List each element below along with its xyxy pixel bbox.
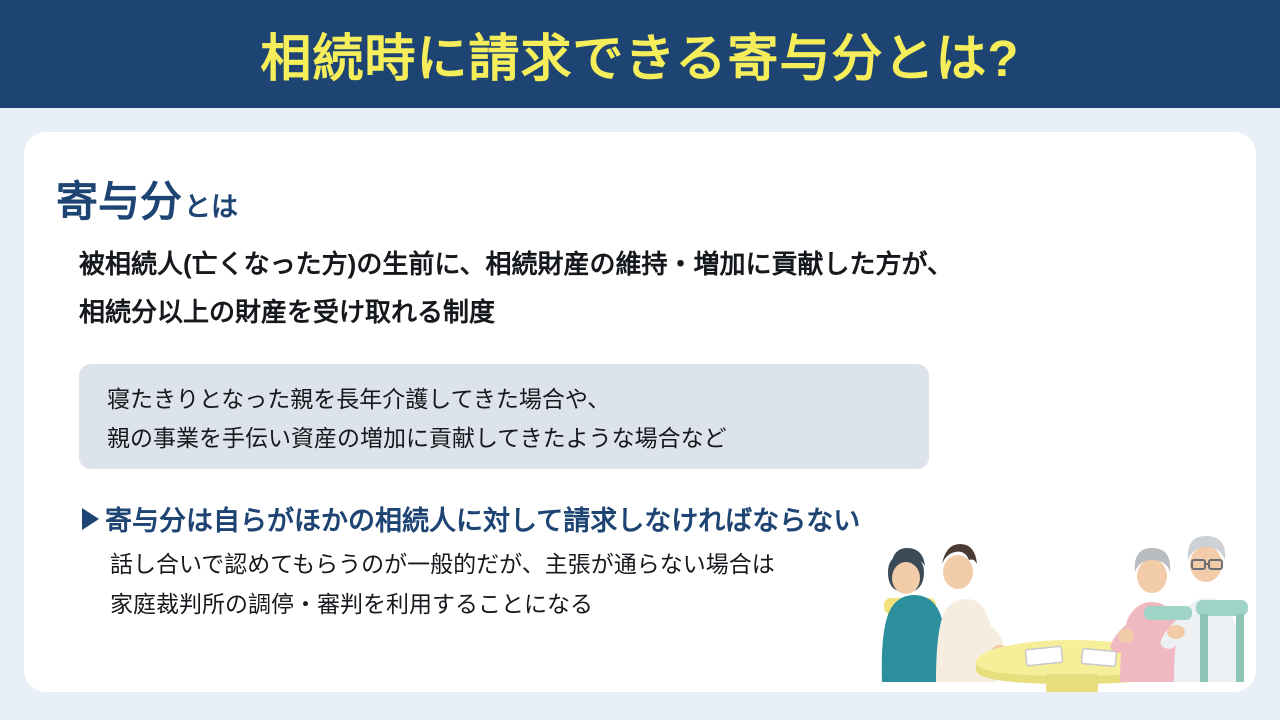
claim-heading-row: 寄与分は自らがほかの相続人に対して請求しなければならない xyxy=(82,499,860,538)
example-box: 寝たきりとなった親を長年介護してきた場合や、 親の事業を手伝い資産の増加に貢献し… xyxy=(79,364,929,469)
chair-mid-right xyxy=(1144,606,1192,620)
triangle-bullet-icon xyxy=(82,508,99,530)
page-title: 相続時に請求できる寄与分とは? xyxy=(0,0,1280,108)
claim-detail-block: 話し合いで認めてもらうのが一般的だが、主張が通らない場合は 家庭裁判所の調停・審… xyxy=(110,544,970,624)
example-line-2: 親の事業を手伝い資産の増加に貢献してきたような場合など xyxy=(107,419,929,458)
example-line-1: 寝たきりとなった親を長年介護してきた場合や、 xyxy=(107,380,929,419)
slide: 相続時に請求できる寄与分とは? 寄与分とは 被相続人(亡くなった方)の生前に、相… xyxy=(0,0,1280,720)
definition-line-2: 相続分以上の財産を受け取れる制度 xyxy=(79,288,1199,336)
claim-heading: 寄与分は自らがほかの相続人に対して請求しなければならない xyxy=(105,499,860,538)
definition-line-1: 被相続人(亡くなった方)の生前に、相続財産の維持・増加に貢献した方が、 xyxy=(79,240,1199,288)
family-meeting-illustration xyxy=(876,502,1256,692)
section-title-main: 寄与分 xyxy=(56,178,182,225)
definition-block: 被相続人(亡くなった方)の生前に、相続財産の維持・増加に貢献した方が、 相続分以… xyxy=(79,240,1199,336)
claim-detail-line-2: 家庭裁判所の調停・審判を利用することになる xyxy=(110,584,970,624)
section-title: 寄与分とは xyxy=(56,168,238,229)
content-card: 寄与分とは 被相続人(亡くなった方)の生前に、相続財産の維持・増加に貢献した方が… xyxy=(24,132,1256,692)
section-title-suffix: とは xyxy=(184,192,238,222)
claim-detail-line-1: 話し合いで認めてもらうのが一般的だが、主張が通らない場合は xyxy=(110,544,970,584)
